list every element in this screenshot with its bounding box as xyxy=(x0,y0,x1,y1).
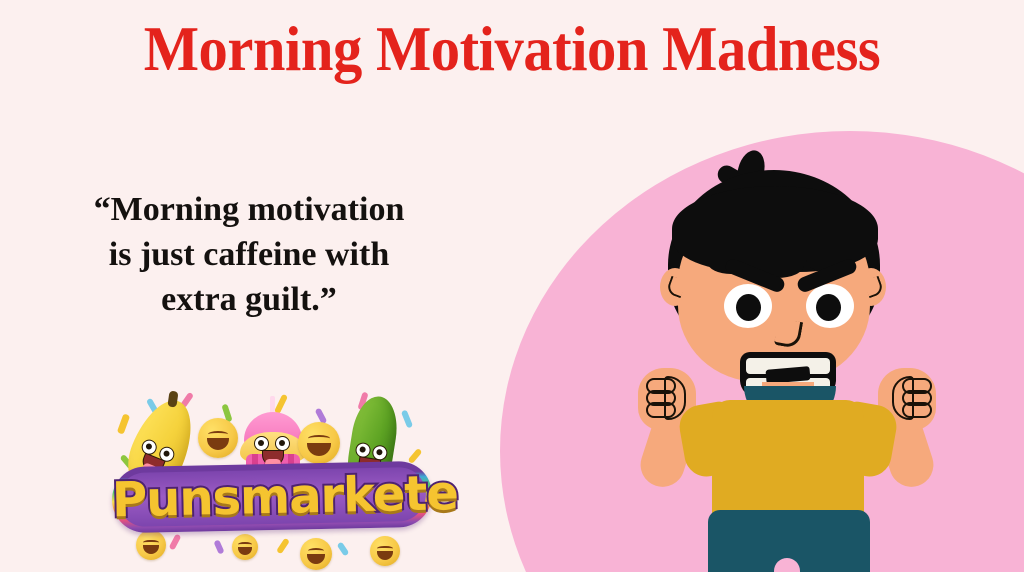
smiling-emoji xyxy=(300,538,332,570)
smiling-emoji xyxy=(232,534,258,560)
pupil-left xyxy=(736,294,761,321)
smiling-emoji xyxy=(198,418,238,458)
cupcake-face xyxy=(254,436,292,464)
confetti-streamer xyxy=(337,542,350,557)
confetti-streamer xyxy=(276,538,290,555)
thumb-line xyxy=(892,376,914,420)
confetti-streamer xyxy=(169,534,182,551)
smiling-emoji xyxy=(298,422,340,464)
confetti-streamer xyxy=(213,539,224,554)
brand-logo: Punsmarkete xyxy=(112,392,432,557)
smiling-emoji xyxy=(370,536,400,566)
angry-boy-illustration xyxy=(620,160,950,572)
pupil-right xyxy=(816,294,841,321)
page-title: Morning Motivation Madness xyxy=(36,16,988,82)
quote-line-1: “Morning motivation xyxy=(34,188,464,233)
cupcake-eye-right xyxy=(275,436,290,451)
confetti-streamer xyxy=(117,413,130,434)
logo-wordmark: Punsmarkete xyxy=(111,459,432,536)
poster-canvas: Morning Motivation Madness “Morning moti… xyxy=(0,0,1024,572)
quote-text: “Morning motivation is just caffeine wit… xyxy=(34,188,464,323)
banana-stem xyxy=(167,391,178,408)
quote-line-3: extra guilt.” xyxy=(34,278,464,323)
confetti-streamer xyxy=(401,410,413,429)
quote-line-2: is just caffeine with xyxy=(34,233,464,278)
yellow-tshirt xyxy=(712,400,864,528)
cupcake-eye-left xyxy=(254,436,269,451)
